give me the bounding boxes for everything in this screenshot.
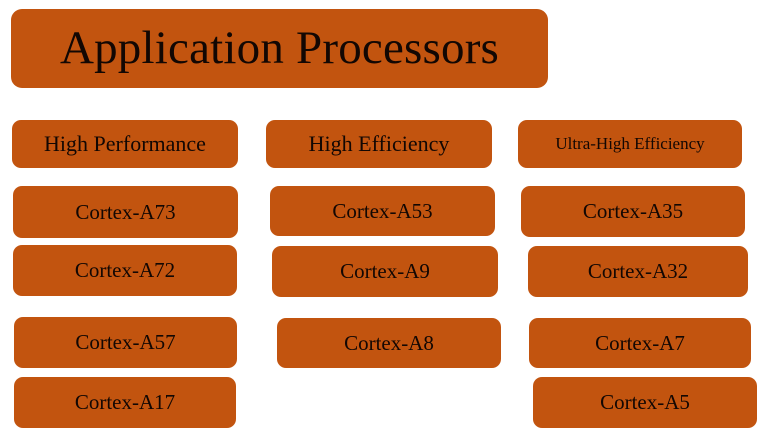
- application-processors-diagram: Application Processors High Performance …: [0, 0, 768, 441]
- processor-item: Cortex-A17: [14, 377, 236, 428]
- processor-item: Cortex-A35: [521, 186, 745, 237]
- column-header-high-efficiency: High Efficiency: [266, 120, 492, 168]
- diagram-title: Application Processors: [11, 9, 548, 88]
- processor-item: Cortex-A7: [529, 318, 751, 368]
- column-header-high-performance: High Performance: [12, 120, 238, 168]
- processor-item: Cortex-A72: [13, 245, 237, 296]
- processor-item: Cortex-A9: [272, 246, 498, 297]
- processor-item: Cortex-A57: [14, 317, 237, 368]
- processor-item: Cortex-A73: [13, 186, 238, 238]
- processor-item: Cortex-A32: [528, 246, 748, 297]
- processor-item: Cortex-A5: [533, 377, 757, 428]
- column-header-ultra-high-efficiency: Ultra-High Efficiency: [518, 120, 742, 168]
- processor-item: Cortex-A8: [277, 318, 501, 368]
- processor-item: Cortex-A53: [270, 186, 495, 236]
